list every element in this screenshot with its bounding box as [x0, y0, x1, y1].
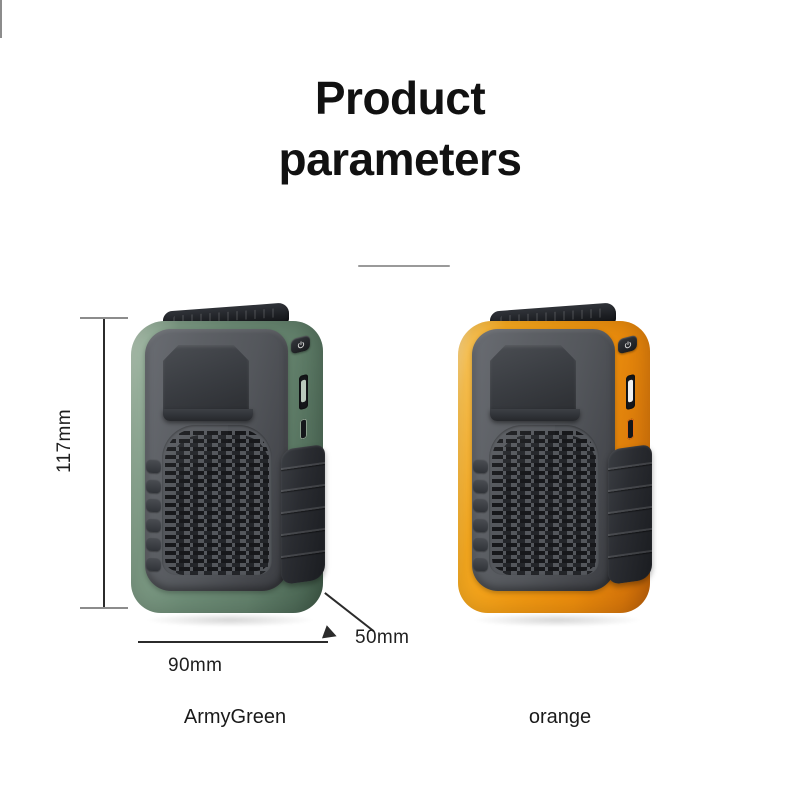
width-tick-right: [0, 19, 2, 38]
height-dimension-line: [103, 318, 105, 608]
right-rib-panel: [608, 444, 652, 585]
fan-grille: [489, 425, 599, 575]
air-outlet-lip: [490, 409, 580, 421]
product-image-orange: [458, 307, 664, 617]
left-rib-strip: [473, 458, 488, 571]
width-tick-left: [0, 0, 2, 19]
height-tick-bottom: [80, 607, 128, 609]
power-icon: [297, 340, 305, 350]
device-front-panel: [145, 329, 288, 591]
usb-a-port: [626, 374, 635, 411]
width-dimension-label: 90mm: [168, 655, 222, 677]
height-dimension-label: 117mm: [54, 406, 76, 476]
air-outlet-hood: [490, 345, 576, 417]
depth-dimension-label: 50mm: [355, 627, 409, 649]
usb-a-port: [299, 374, 308, 411]
product-caption-armygreen: ArmyGreen: [145, 706, 325, 729]
drop-shadow: [145, 613, 315, 627]
left-rib-strip: [146, 458, 161, 571]
indicator-slot: [627, 418, 634, 440]
device-front-panel: [472, 329, 615, 591]
power-icon: [624, 340, 632, 350]
fan-grille: [162, 425, 272, 575]
air-outlet-lip: [163, 409, 253, 421]
width-dimension-line: [138, 641, 328, 643]
air-outlet-hood: [163, 345, 249, 417]
grille-holes-row-b: [498, 435, 596, 575]
product-caption-orange: orange: [470, 706, 650, 729]
product-stage: 117mm 90mm 50mm ArmyGreen orange: [0, 0, 800, 800]
drop-shadow: [472, 613, 642, 627]
indicator-slot: [300, 418, 307, 440]
right-rib-panel: [281, 444, 325, 585]
product-image-armygreen: [131, 307, 337, 617]
height-tick-top: [80, 317, 128, 319]
grille-holes-row-b: [171, 435, 269, 575]
